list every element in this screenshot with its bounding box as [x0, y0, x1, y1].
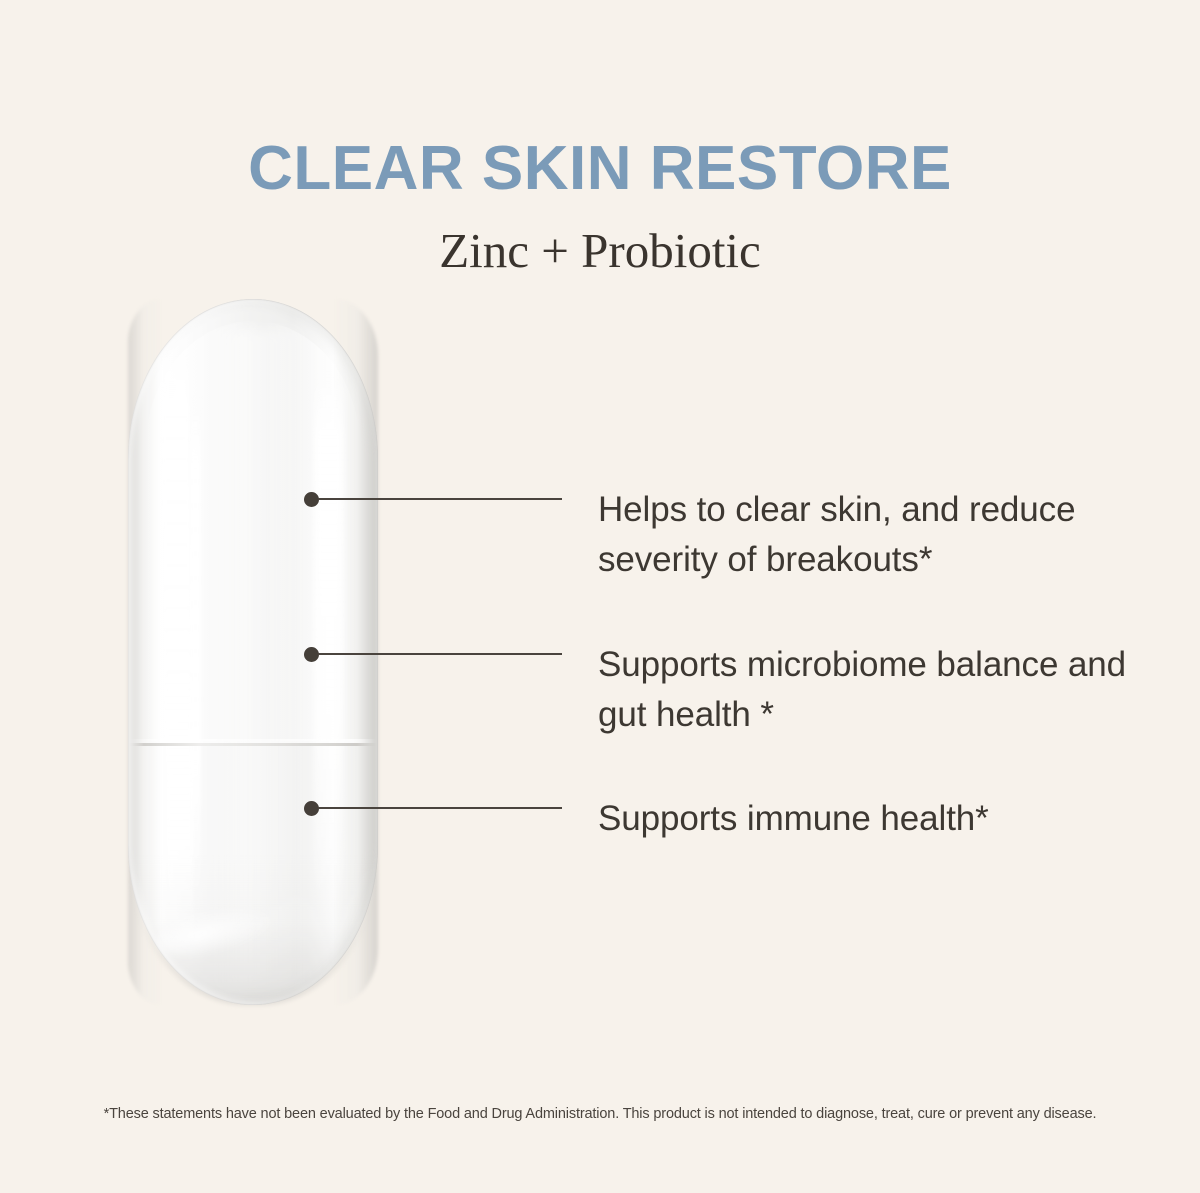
benefit-text-clear-skin: Helps to clear skin, and reduce severity…	[598, 485, 1138, 586]
leader-line-microbiome-balance	[318, 653, 562, 655]
capsule-illustration	[128, 299, 378, 1005]
fda-disclaimer: *These statements have not been evaluate…	[0, 1106, 1200, 1122]
benefit-text-microbiome-balance: Supports microbiome balance and gut heal…	[598, 640, 1138, 741]
benefit-text-immune-health: Supports immune health*	[598, 794, 1138, 844]
page-subtitle: Zinc + Probiotic	[0, 224, 1200, 278]
callout-dot-clear-skin	[304, 492, 319, 507]
product-info-graphic: CLEAR SKIN RESTORE Zinc + Probiotic Help…	[0, 0, 1200, 1193]
leader-line-clear-skin	[318, 498, 562, 500]
page-title: CLEAR SKIN RESTORE	[0, 136, 1200, 201]
callout-dot-microbiome-balance	[304, 647, 319, 662]
leader-line-immune-health	[318, 807, 562, 809]
callout-dot-immune-health	[304, 801, 319, 816]
capsule-body	[128, 299, 378, 1005]
